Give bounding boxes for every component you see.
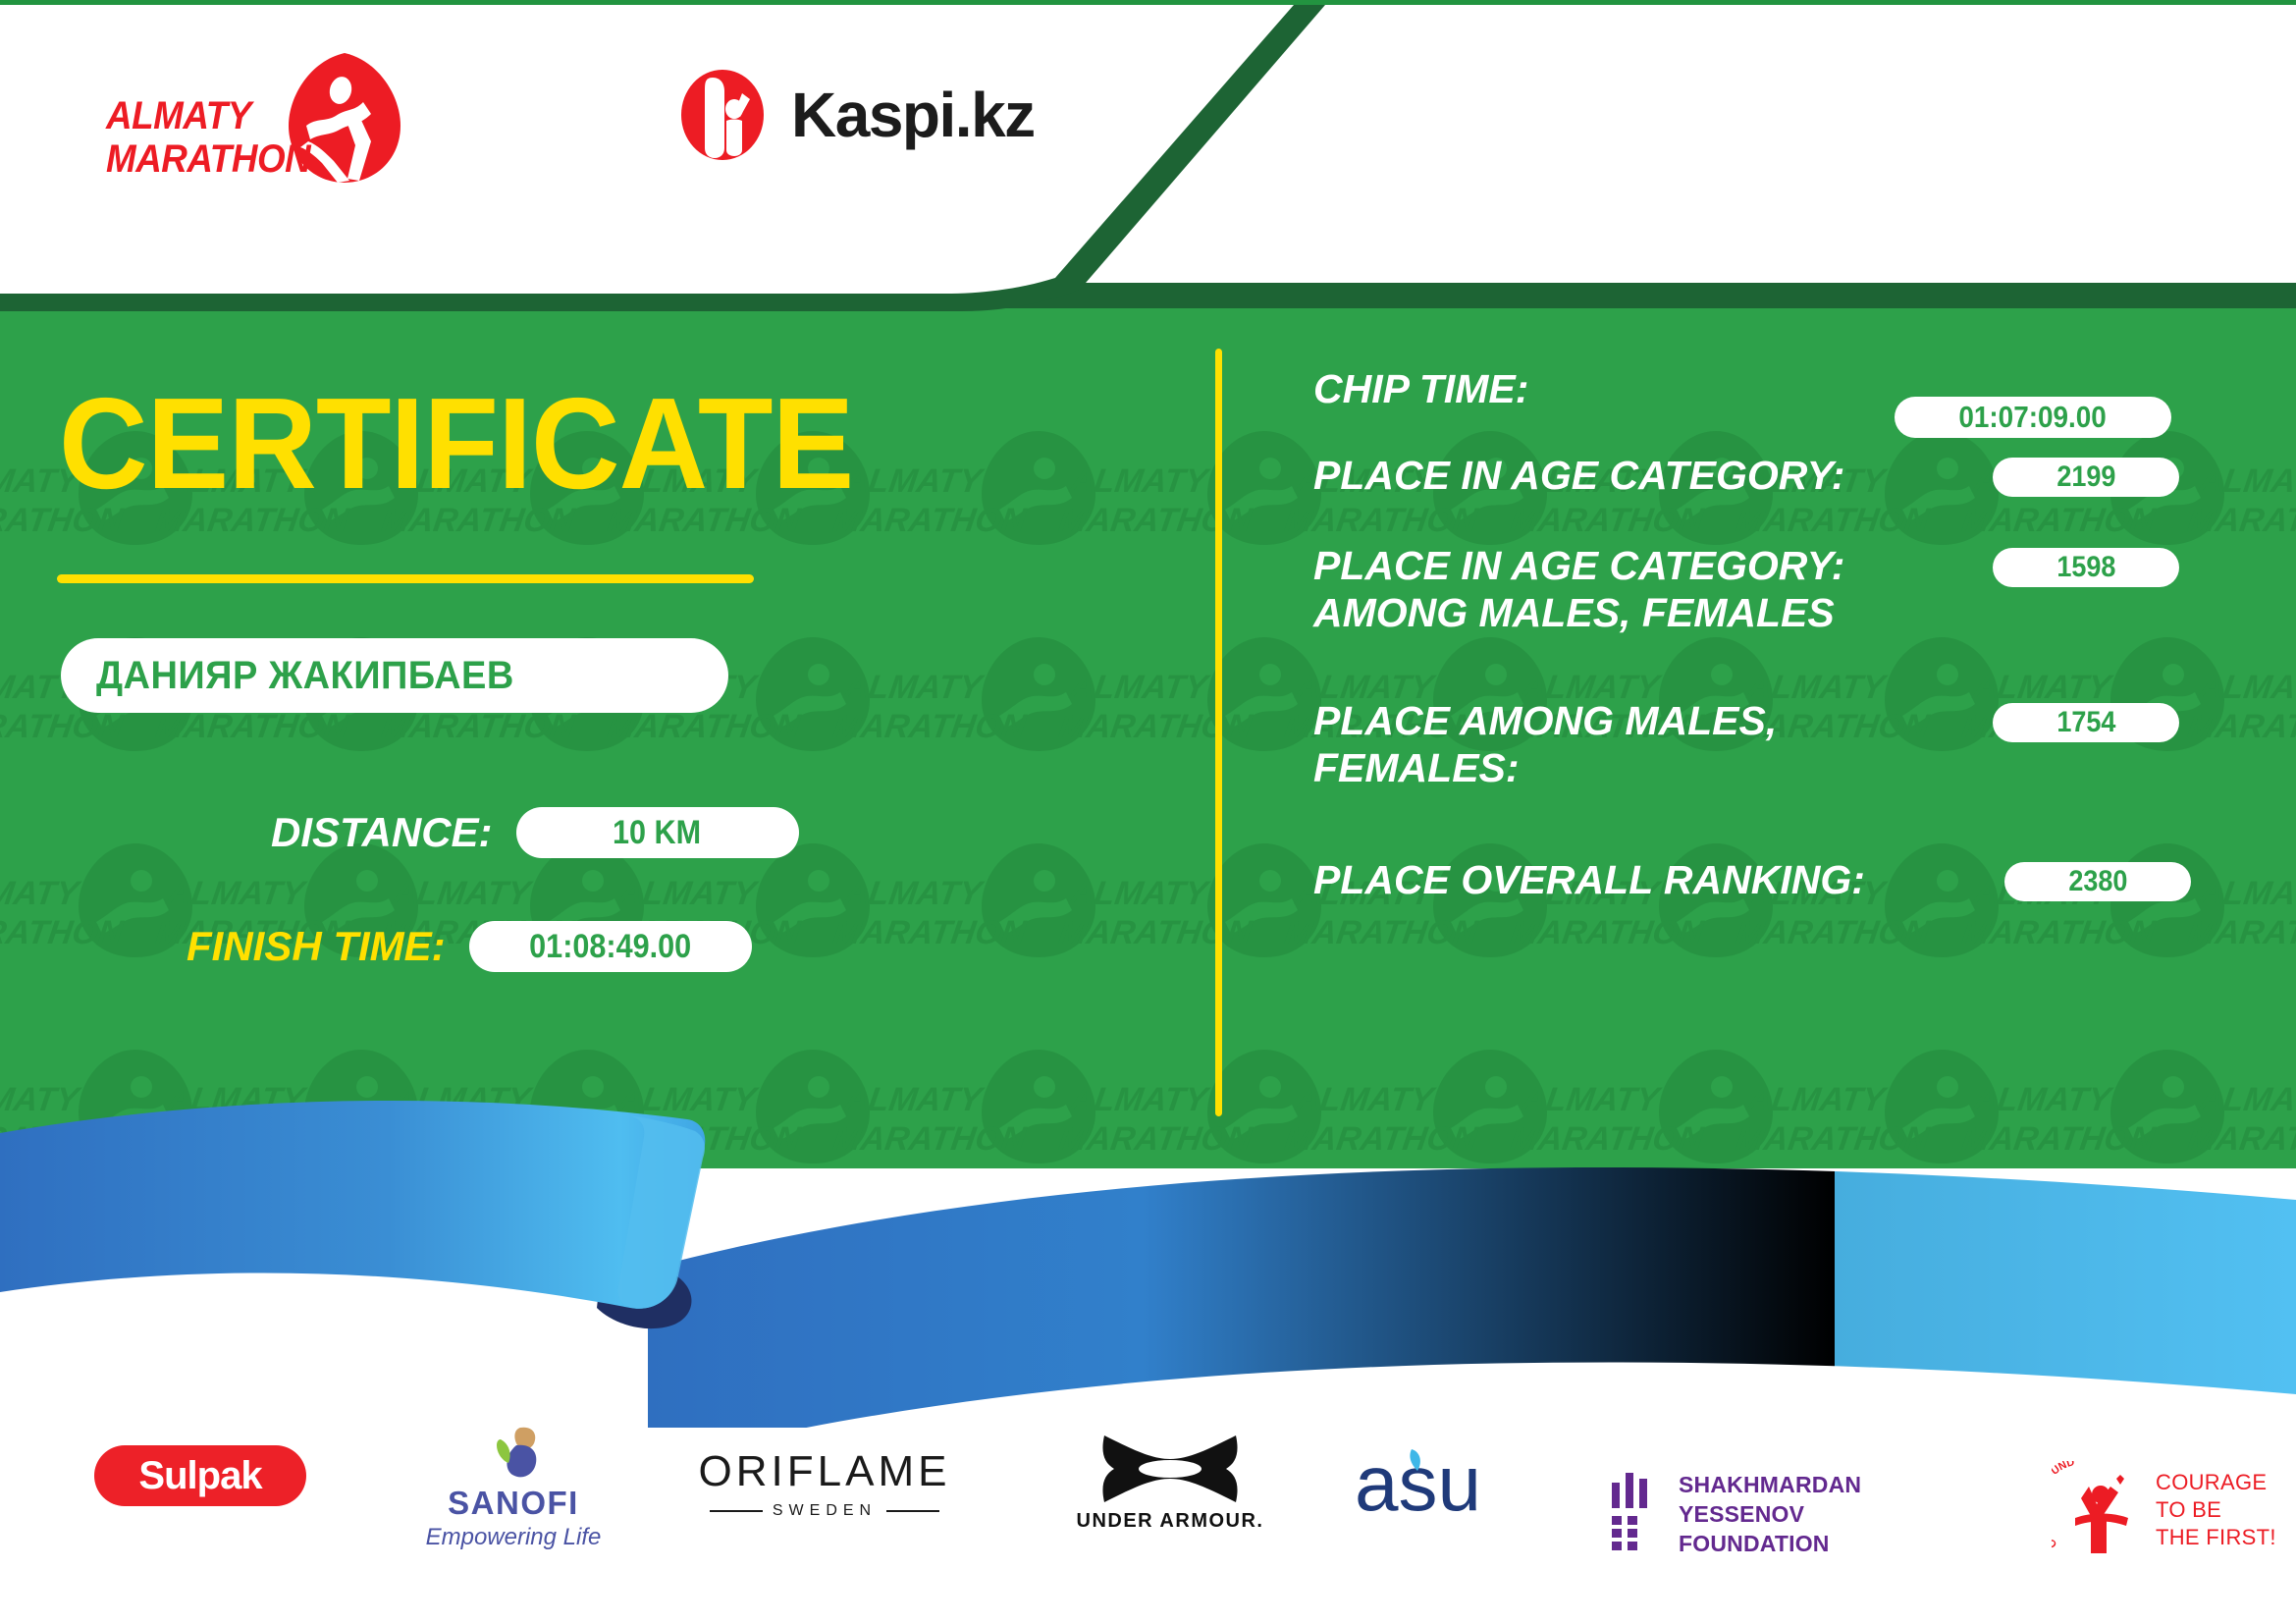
place-age-category-among-value-pill: 1598 <box>1993 548 2179 587</box>
kaspi-people-icon <box>677 66 768 164</box>
page-title: CERTIFICATE <box>59 385 1085 503</box>
place-age-category-value: 2199 <box>2056 460 2115 494</box>
sanofi-leaf-icon <box>481 1426 546 1481</box>
almaty-marathon-logo: ALMATY MARATHON <box>106 51 420 179</box>
place-age-category-among-line1: PLACE IN AGE CATEGORY: <box>1313 542 1844 589</box>
sponsor-logo-corporate-fund: CORPORATE FUND COURAGE TO BE THE FIRST! <box>2052 1432 2277 1589</box>
place-overall-ranking-value-pill: 2380 <box>2004 862 2191 901</box>
finish-time-row: FINISH TIME: 01:08:49.00 <box>187 921 752 972</box>
place-age-category-value-pill: 2199 <box>1993 458 2179 497</box>
oriflame-sweden-row: SWEDEN <box>687 1502 962 1520</box>
sanofi-wordmark: SANOFI <box>400 1485 626 1522</box>
corporate-fund-line2: TO BE <box>2156 1496 2276 1524</box>
chip-time-value: 01:07:09.00 <box>1959 400 2107 435</box>
distance-value: 10 KM <box>613 814 701 852</box>
distance-label: DISTANCE: <box>271 809 493 856</box>
oriflame-dash-left <box>710 1510 763 1512</box>
chip-time-value-pill: 01:07:09.00 <box>1895 397 2171 438</box>
oriflame-country: SWEDEN <box>773 1502 877 1520</box>
place-among-males-females-value: 1754 <box>2056 706 2115 739</box>
sanofi-tagline: Empowering Life <box>400 1524 626 1551</box>
kaspi-logo: Kaspi.kz <box>677 61 1035 169</box>
almaty-marathon-wordmark: ALMATY MARATHON <box>106 94 287 181</box>
almaty-marathon-line1: ALMATY <box>106 94 287 137</box>
participant-name-field: ДАНИЯР ЖАКИПБАЕВ <box>61 638 728 713</box>
corporate-fund-slogan: COURAGE TO BE THE FIRST! <box>2156 1469 2276 1551</box>
sponsor-logo-sanofi: SANOFI Empowering Life <box>400 1426 626 1583</box>
yessenov-bars-icon <box>1610 1473 1661 1555</box>
sponsor-logo-oriflame: ORIFLAME SWEDEN <box>687 1447 962 1604</box>
vertical-divider <box>1215 349 1222 1116</box>
yessenov-line1: SHAKHMARDAN YESSENOV <box>1679 1470 1983 1529</box>
participant-name-value: ДАНИЯР ЖАКИПБАЕВ <box>96 654 514 698</box>
corporate-fund-line1: COURAGE <box>2156 1469 2276 1496</box>
title-underline <box>57 574 754 583</box>
almaty-marathon-line2: MARATHON <box>106 137 287 181</box>
corporate-fund-line3: THE FIRST! <box>2156 1524 2276 1551</box>
under-armour-icon <box>1096 1434 1244 1504</box>
sulpak-wordmark: Sulpak <box>138 1454 261 1498</box>
kaspi-wordmark: Kaspi.kz <box>791 79 1035 151</box>
sponsor-logo-asu: asu <box>1355 1439 1531 1597</box>
finish-time-label: FINISH TIME: <box>187 923 446 970</box>
sponsor-logo-sulpak: Sulpak <box>94 1445 306 1506</box>
stats-panel: CHIP TIME: 01:07:09.00 PLACE IN AGE CATE… <box>1276 365 2258 856</box>
finish-time-value: 01:08:49.00 <box>529 928 691 966</box>
certificate-canvas: ALMATY MARATHON <box>0 0 2296 1624</box>
place-among-males-females-value-pill: 1754 <box>1993 703 2179 742</box>
yessenov-line2: FOUNDATION <box>1679 1529 1983 1558</box>
place-overall-ranking-value: 2380 <box>2068 865 2127 898</box>
place-overall-ranking-label: PLACE OVERALL RANKING: <box>1313 856 1865 903</box>
chip-time-label: CHIP TIME: <box>1313 365 1528 412</box>
distance-value-pill: 10 KM <box>516 807 799 858</box>
oriflame-wordmark: ORIFLAME <box>687 1447 962 1496</box>
svg-text:CORPORATE FUND: CORPORATE FUND <box>2052 1461 2076 1550</box>
under-armour-wordmark: UNDER ARMOUR. <box>1072 1510 1268 1533</box>
svg-text:asu: asu <box>1355 1439 1481 1527</box>
yessenov-wordmark: SHAKHMARDAN YESSENOV FOUNDATION <box>1679 1470 1983 1558</box>
corporate-fund-arc-text: CORPORATE FUND <box>2052 1461 2076 1550</box>
oriflame-dash-right <box>886 1510 939 1512</box>
place-among-males-females-label: PLACE AMONG MALES, FEMALES: <box>1313 697 1777 791</box>
place-among-males-females-line1: PLACE AMONG MALES, <box>1313 697 1777 744</box>
place-age-category-among-line2: AMONG MALES, FEMALES <box>1313 589 1844 636</box>
place-age-category-among-label: PLACE IN AGE CATEGORY: AMONG MALES, FEMA… <box>1313 542 1844 636</box>
asu-wordmark: asu <box>1355 1439 1531 1530</box>
place-among-males-females-line2: FEMALES: <box>1313 744 1777 791</box>
sponsor-bar: Sulpak SANOFI Empowering Life ORIFLAME S… <box>0 1426 2296 1602</box>
place-age-category-label: PLACE IN AGE CATEGORY: <box>1313 452 1844 499</box>
corporate-fund-runner-icon: CORPORATE FUND <box>2052 1461 2146 1559</box>
place-age-category-among-value: 1598 <box>2056 551 2115 584</box>
finish-time-value-pill: 01:08:49.00 <box>469 921 752 972</box>
distance-row: DISTANCE: 10 KM <box>271 807 799 858</box>
sponsor-logo-yessenov-foundation: SHAKHMARDAN YESSENOV FOUNDATION <box>1610 1435 1983 1593</box>
sponsor-logo-under-armour: UNDER ARMOUR. <box>1072 1434 1268 1591</box>
event-ribbon: APRIL 21 st RUN FOR SENSATIONS <box>0 1090 2296 1424</box>
